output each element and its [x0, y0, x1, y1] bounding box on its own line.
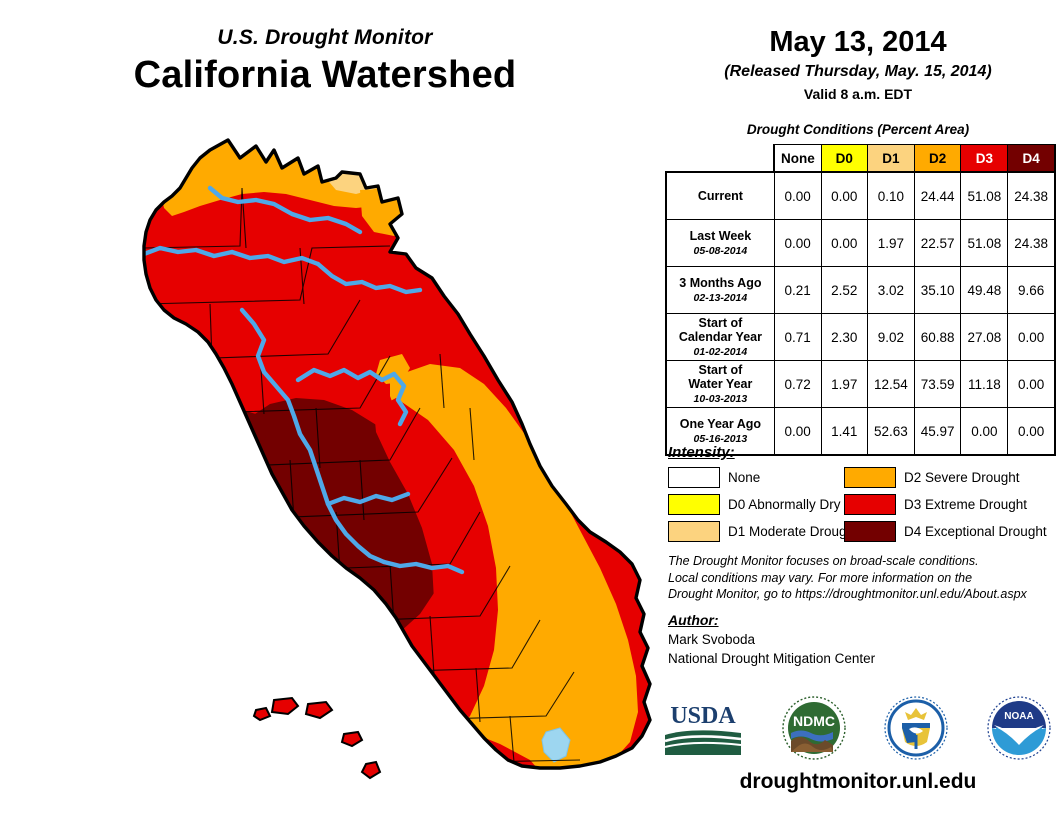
legend-label-d0: D0 Abnormally Dry — [728, 497, 841, 512]
cell-d0: 0.00 — [821, 220, 868, 267]
row-label: Start ofCalendar Year01-02-2014 — [666, 314, 774, 361]
ndmc-logo[interactable]: NDMC — [781, 695, 847, 761]
author-heading: Author: — [668, 612, 1048, 628]
legend-label-d1: D1 Moderate Drought — [728, 524, 858, 539]
us-dept-commerce-seal[interactable] — [883, 695, 949, 761]
author-organization: National Drought Mitigation Center — [668, 651, 1048, 666]
noaa-logo[interactable]: NOAA — [986, 695, 1052, 761]
usda-logo[interactable]: USDA — [662, 697, 744, 759]
col-header-d3: D3 — [961, 145, 1008, 173]
noaa-logo-text: NOAA — [1004, 711, 1033, 722]
cell-d0: 2.52 — [821, 267, 868, 314]
cell-d4: 9.66 — [1008, 267, 1055, 314]
table-row: Start ofCalendar Year01-02-20140.712.309… — [666, 314, 1055, 361]
cell-d2: 73.59 — [914, 361, 961, 408]
channel-islands — [254, 698, 380, 778]
legend-swatch-d2 — [844, 467, 896, 488]
row-label: 3 Months Ago02-13-2014 — [666, 267, 774, 314]
legend-label-d4: D4 Exceptional Drought — [904, 524, 1047, 539]
cell-d2: 22.57 — [914, 220, 961, 267]
cell-d3: 11.18 — [961, 361, 1008, 408]
intensity-legend: Intensity: None D2 Severe Drought D0 Abn… — [668, 444, 1056, 542]
table-body: Current0.000.000.1024.4451.0824.38Last W… — [666, 172, 1055, 455]
row-label-line: Water Year — [688, 377, 752, 391]
author-name: Mark Svoboda — [668, 632, 1048, 647]
disclaimer-text: The Drought Monitor focuses on broad-sca… — [668, 553, 1048, 603]
legend-item-d4: D4 Exceptional Drought — [844, 521, 1056, 542]
row-label-line: Current — [698, 189, 743, 203]
cell-d0: 2.30 — [821, 314, 868, 361]
cell-d4: 24.38 — [1008, 220, 1055, 267]
legend-swatch-d0 — [668, 494, 720, 515]
drought-zone-d4-south-lobe — [258, 606, 402, 706]
legend-swatch-d4 — [844, 521, 896, 542]
row-label: Last Week05-08-2014 — [666, 220, 774, 267]
cell-d3: 51.08 — [961, 172, 1008, 220]
legend-item-none: None — [668, 467, 844, 488]
valid-time: Valid 8 a.m. EDT — [660, 86, 1056, 102]
disclaimer-line-3: Drought Monitor, go to https://droughtmo… — [668, 586, 1048, 603]
col-header-d1: D1 — [868, 145, 915, 173]
cell-d1: 12.54 — [868, 361, 915, 408]
legend-item-d2: D2 Severe Drought — [844, 467, 1056, 488]
usda-logo-text: USDA — [670, 703, 736, 729]
row-label-date: 05-16-2013 — [671, 433, 770, 445]
program-title: U.S. Drought Monitor — [0, 26, 650, 50]
table-caption: Drought Conditions (Percent Area) — [660, 122, 1056, 137]
page-title: California Watershed — [0, 54, 650, 97]
drought-zone-d2-northwest-coast — [74, 204, 136, 270]
legend-item-d1: D1 Moderate Drought — [668, 521, 844, 542]
legend-swatch-d3 — [844, 494, 896, 515]
legend-label-d2: D2 Severe Drought — [904, 470, 1020, 485]
col-header-d0: D0 — [821, 145, 868, 173]
cell-none: 0.00 — [774, 220, 821, 267]
cell-d4: 0.00 — [1008, 314, 1055, 361]
cell-d4: 24.38 — [1008, 172, 1055, 220]
drought-zone-d4-northwest-lobe — [192, 408, 266, 480]
row-label-line: Last Week — [690, 229, 752, 243]
cell-none: 0.21 — [774, 267, 821, 314]
cell-d2: 60.88 — [914, 314, 961, 361]
row-label-line: Start of — [699, 316, 743, 330]
row-label-line: One Year Ago — [680, 417, 761, 431]
table-row: 3 Months Ago02-13-20140.212.523.0235.104… — [666, 267, 1055, 314]
legend-label-d3: D3 Extreme Drought — [904, 497, 1027, 512]
cell-d2: 35.10 — [914, 267, 961, 314]
row-label-date: 02-13-2014 — [671, 292, 770, 304]
row-label-line: Start of — [699, 363, 743, 377]
row-label-line: 3 Months Ago — [679, 276, 761, 290]
row-label: Start ofWater Year10-03-2013 — [666, 361, 774, 408]
col-header-d4: D4 — [1008, 145, 1055, 173]
row-label: Current — [666, 172, 774, 220]
date-block: May 13, 2014 (Released Thursday, May. 15… — [660, 26, 1056, 102]
release-date: (Released Thursday, May. 15, 2014) — [660, 63, 1056, 81]
legend-item-d3: D3 Extreme Drought — [844, 494, 1056, 515]
row-label-date: 01-02-2014 — [671, 346, 770, 358]
cell-d1: 0.10 — [868, 172, 915, 220]
legend-title: Intensity: — [668, 444, 1056, 461]
legend-item-d0: D0 Abnormally Dry — [668, 494, 844, 515]
cell-d1: 1.97 — [868, 220, 915, 267]
california-watershed-map[interactable] — [60, 128, 660, 800]
cell-d3: 27.08 — [961, 314, 1008, 361]
cell-none: 0.71 — [774, 314, 821, 361]
row-label-date: 05-08-2014 — [671, 245, 770, 257]
ndmc-logo-text: NDMC — [793, 713, 835, 729]
drought-monitor-page: U.S. Drought Monitor California Watershe… — [0, 0, 1056, 816]
table-row: Last Week05-08-20140.000.001.9722.5751.0… — [666, 220, 1055, 267]
author-block: Author: Mark Svoboda National Drought Mi… — [668, 612, 1048, 666]
cell-d3: 51.08 — [961, 220, 1008, 267]
disclaimer-line-1: The Drought Monitor focuses on broad-sca… — [668, 553, 1048, 570]
cell-d0: 1.97 — [821, 361, 868, 408]
cell-d4: 0.00 — [1008, 361, 1055, 408]
cell-none: 0.00 — [774, 172, 821, 220]
website-url[interactable]: droughtmonitor.unl.edu — [660, 770, 1056, 794]
table-row: Current0.000.000.1024.4451.0824.38 — [666, 172, 1055, 220]
cell-d2: 24.44 — [914, 172, 961, 220]
legend-swatch-d1 — [668, 521, 720, 542]
row-label-line: Calendar Year — [679, 330, 762, 344]
cell-d1: 3.02 — [868, 267, 915, 314]
table-header-row: None D0 D1 D2 D3 D4 — [666, 145, 1055, 173]
cell-none: 0.72 — [774, 361, 821, 408]
row-label-date: 10-03-2013 — [671, 393, 770, 405]
report-date: May 13, 2014 — [660, 26, 1056, 59]
cell-d1: 9.02 — [868, 314, 915, 361]
legend-label-none: None — [728, 470, 760, 485]
drought-conditions-table: None D0 D1 D2 D3 D4 Current0.000.000.102… — [665, 144, 1056, 456]
partner-logos: USDA NDMC NOAA — [662, 692, 1052, 764]
col-header-d2: D2 — [914, 145, 961, 173]
title-block: U.S. Drought Monitor California Watershe… — [0, 26, 650, 97]
cell-d3: 49.48 — [961, 267, 1008, 314]
disclaimer-line-2: Local conditions may vary. For more info… — [668, 570, 1048, 587]
table-corner-cell — [666, 145, 774, 173]
legend-swatch-none — [668, 467, 720, 488]
col-header-none: None — [774, 145, 821, 173]
legend-grid: None D2 Severe Drought D0 Abnormally Dry… — [668, 467, 1056, 542]
table-row: Start ofWater Year10-03-20130.721.9712.5… — [666, 361, 1055, 408]
cell-d0: 0.00 — [821, 172, 868, 220]
